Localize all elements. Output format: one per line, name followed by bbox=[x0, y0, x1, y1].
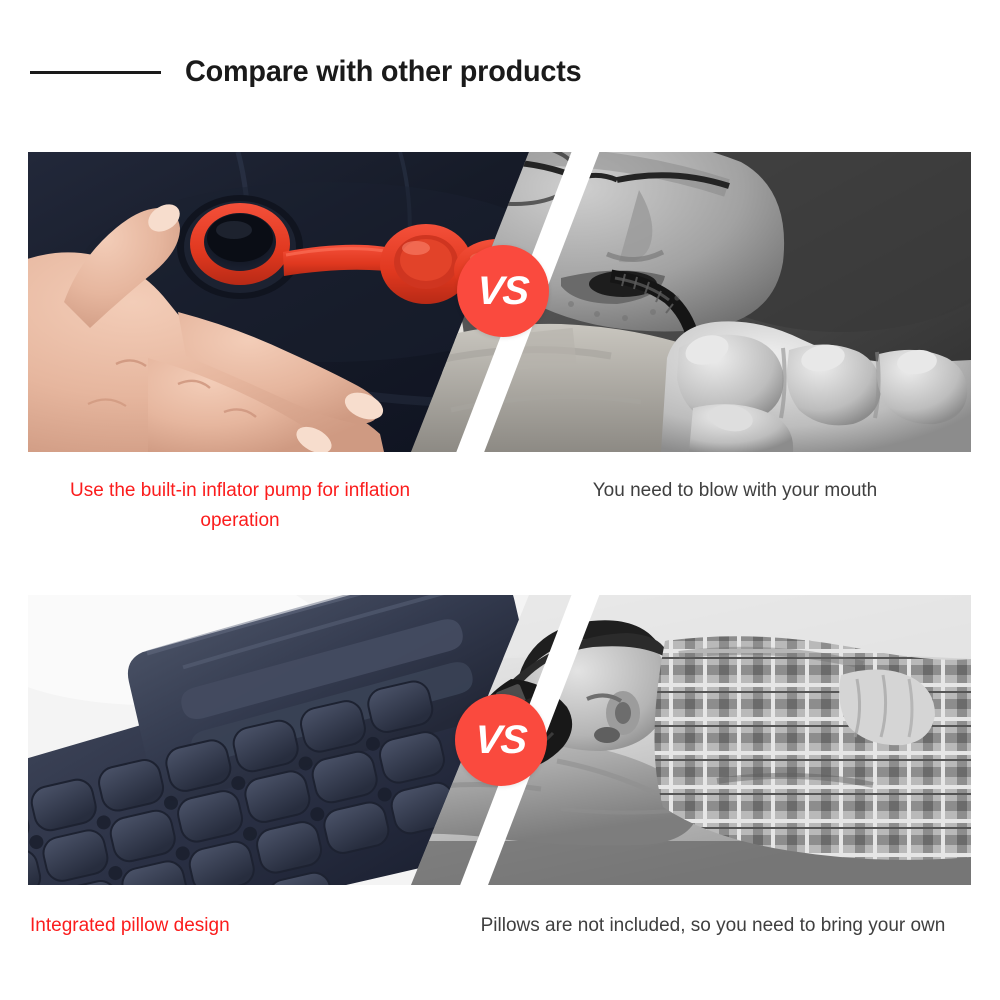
vs-badge-1: VS bbox=[457, 245, 549, 337]
page-header: Compare with other products bbox=[0, 46, 1000, 98]
page-title: Compare with other products bbox=[185, 57, 581, 87]
comparison-infographic: Compare with other products bbox=[0, 0, 1000, 1000]
caption-left-2: Integrated pillow design bbox=[30, 911, 450, 941]
caption-right-2: Pillows are not included, so you need to… bbox=[468, 911, 958, 941]
title-rule-icon bbox=[30, 71, 161, 74]
caption-right-1: You need to blow with your mouth bbox=[510, 476, 960, 506]
caption-left-1: Use the built-in inflator pump for infla… bbox=[30, 476, 450, 536]
vs-badge-2: VS bbox=[455, 694, 547, 786]
vs-badge-label-2: VS bbox=[474, 720, 528, 760]
vs-badge-label-1: VS bbox=[476, 271, 530, 311]
